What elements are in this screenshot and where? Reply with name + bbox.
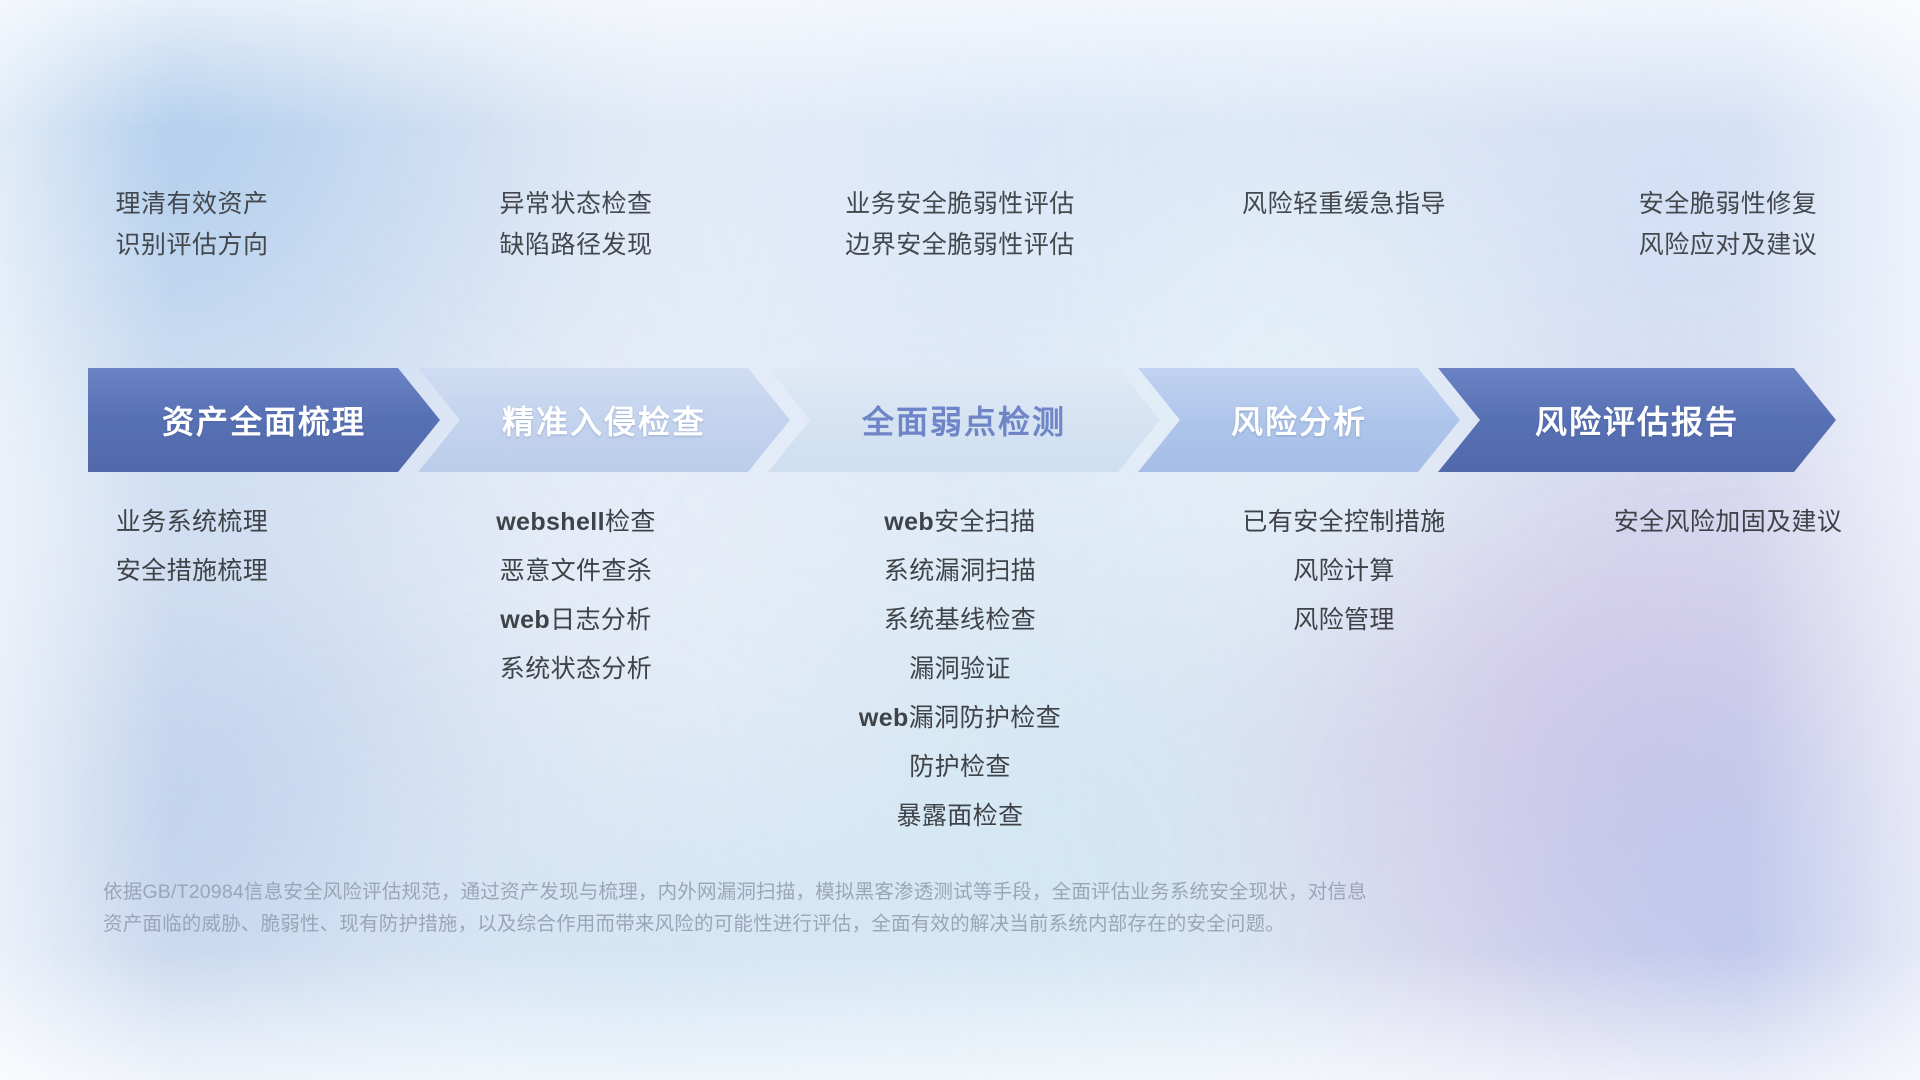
stage-detail-item-text: 暴露面检查 (896, 802, 1023, 830)
stage-detail-item-text: 恶意文件查杀 (500, 557, 652, 585)
stage-top-label: 风险应对及建议 (1639, 225, 1818, 266)
stage-title: 资产全面梳理 (162, 397, 366, 443)
stage-top-label: 风险轻重缓急指导 (1242, 184, 1446, 225)
stage-detail-item-text: 业务系统梳理 (116, 508, 268, 536)
stage-top-labels-4: 风险轻重缓急指导 (1152, 178, 1536, 290)
stage-detail-item-keyword: web (859, 704, 909, 732)
stage-detail-item-text: 系统状态分析 (500, 655, 652, 683)
stage-top-label: 识别评估方向 (115, 225, 268, 266)
stage-detail-item: 漏洞验证 (909, 645, 1011, 694)
stage-detail-list-3: web安全扫描系统漏洞扫描系统基线检查漏洞验证web漏洞防护检查防护检查暴露面检… (768, 498, 1152, 841)
stage-top-label: 缺陷路径发现 (499, 225, 652, 266)
stage-detail-list-5: 安全风险加固及建议 (1536, 498, 1920, 841)
description-paragraph: 依据GB/T20984信息安全风险评估规范，通过资产发现与梳理，内外网漏洞扫描，… (103, 876, 1753, 940)
stage-detail-item-keyword: web (884, 508, 934, 536)
stage-detail-item: 业务系统梳理 (116, 498, 268, 547)
stage-top-labels-5: 安全脆弱性修复风险应对及建议 (1536, 178, 1920, 290)
stage-detail-item-text: 已有安全控制措施 (1242, 508, 1445, 536)
stage-chevron-5[interactable]: 风险评估报告 (1438, 368, 1836, 472)
stage-detail-item: 已有安全控制措施 (1242, 498, 1445, 547)
stage-detail-list-4: 已有安全控制措施风险计算风险管理 (1152, 498, 1536, 841)
stage-detail-item: webshell检查 (496, 498, 656, 547)
stage-top-label: 业务安全脆弱性评估 (845, 184, 1075, 225)
stage-detail-item-text: 系统漏洞扫描 (884, 557, 1036, 585)
stage-detail-item-text: 系统基线检查 (884, 606, 1036, 634)
stage-chevron-banner: 资产全面梳理精准入侵检查全面弱点检测风险分析风险评估报告 (88, 368, 1836, 472)
stage-chevron-1[interactable]: 资产全面梳理 (88, 368, 440, 472)
stage-top-label: 理清有效资产 (115, 184, 268, 225)
stage-top-labels-row: 理清有效资产识别评估方向异常状态检查缺陷路径发现业务安全脆弱性评估边界安全脆弱性… (0, 178, 1920, 290)
description-line-1: 依据GB/T20984信息安全风险评估规范，通过资产发现与梳理，内外网漏洞扫描，… (103, 876, 1753, 908)
stage-top-label: 安全脆弱性修复 (1639, 184, 1818, 225)
stage-chevron-4[interactable]: 风险分析 (1138, 368, 1460, 472)
stage-detail-list-2: webshell检查恶意文件查杀web日志分析系统状态分析 (384, 498, 768, 841)
stage-detail-item-text: 检查 (605, 508, 656, 536)
stage-title: 风险评估报告 (1535, 397, 1739, 443)
stage-detail-item: web安全扫描 (884, 498, 1035, 547)
stage-detail-item-text: 安全扫描 (934, 508, 1036, 536)
stage-detail-item: 防护检查 (909, 743, 1011, 792)
stage-detail-item-text: 风险管理 (1293, 606, 1395, 634)
stage-detail-item: 系统基线检查 (884, 596, 1036, 645)
stage-detail-item-keyword: web (500, 606, 550, 634)
stage-chevron-3[interactable]: 全面弱点检测 (768, 368, 1160, 472)
stage-detail-item: 系统状态分析 (500, 645, 652, 694)
stage-detail-columns-row: 业务系统梳理安全措施梳理webshell检查恶意文件查杀web日志分析系统状态分… (0, 498, 1920, 841)
stage-top-labels-3: 业务安全脆弱性评估边界安全脆弱性评估 (768, 178, 1152, 290)
stage-detail-item-text: 漏洞验证 (909, 655, 1011, 683)
stage-detail-item: 风险管理 (1293, 596, 1395, 645)
stage-detail-item: web日志分析 (500, 596, 651, 645)
stage-detail-item: 安全风险加固及建议 (1614, 498, 1843, 547)
stage-detail-item-text: 风险计算 (1293, 557, 1395, 585)
stage-detail-item: 系统漏洞扫描 (884, 547, 1036, 596)
process-diagram: 理清有效资产识别评估方向异常状态检查缺陷路径发现业务安全脆弱性评估边界安全脆弱性… (0, 0, 1920, 1080)
stage-title: 精准入侵检查 (502, 397, 706, 443)
stage-chevron-2[interactable]: 精准入侵检查 (418, 368, 790, 472)
stage-detail-item-text: 日志分析 (550, 606, 652, 634)
stage-detail-item: 安全措施梳理 (116, 547, 268, 596)
stage-top-label: 异常状态检查 (499, 184, 652, 225)
stage-top-label: 边界安全脆弱性评估 (845, 225, 1075, 266)
stage-detail-item: 恶意文件查杀 (500, 547, 652, 596)
stage-detail-item-text: 安全风险加固及建议 (1614, 508, 1843, 536)
stage-title: 风险分析 (1231, 397, 1367, 443)
stage-top-labels-2: 异常状态检查缺陷路径发现 (384, 178, 768, 290)
stage-detail-item-text: 防护检查 (909, 753, 1011, 781)
stage-detail-list-1: 业务系统梳理安全措施梳理 (0, 498, 384, 841)
stage-detail-item-keyword: webshell (496, 508, 605, 536)
description-line-2: 资产面临的威胁、脆弱性、现有防护措施，以及综合作用而带来风险的可能性进行评估，全… (103, 908, 1753, 940)
stage-top-labels-1: 理清有效资产识别评估方向 (0, 178, 384, 290)
stage-detail-item: 暴露面检查 (896, 792, 1023, 841)
stage-detail-item: web漏洞防护检查 (859, 694, 1061, 743)
stage-detail-item-text: 漏洞防护检查 (909, 704, 1061, 732)
stage-detail-item-text: 安全措施梳理 (116, 557, 268, 585)
stage-detail-item: 风险计算 (1293, 547, 1395, 596)
stage-title: 全面弱点检测 (862, 397, 1066, 443)
